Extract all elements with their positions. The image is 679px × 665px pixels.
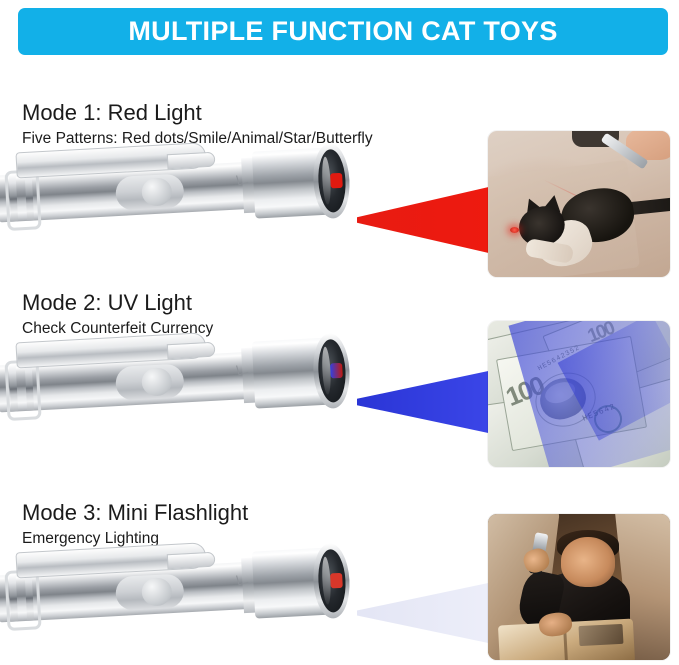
photo-counterfeit-currency: 100 HE5642352 HE5642 100 bbox=[488, 321, 670, 467]
header-banner: MULTIPLE FUNCTION CAT TOYS bbox=[18, 8, 668, 55]
red-light-beam bbox=[357, 186, 493, 254]
uv-light-beam bbox=[357, 370, 493, 434]
red-emitter-icon bbox=[330, 173, 343, 189]
white-led-emitter-icon bbox=[330, 573, 343, 589]
mode-title-2: Mode 2: UV Light bbox=[22, 290, 192, 316]
flashlight-illustration-1 bbox=[0, 128, 368, 253]
mode-title-3: Mode 3: Mini Flashlight bbox=[22, 500, 248, 526]
photo-layer bbox=[488, 514, 670, 660]
photo-layer: 100 HE5642352 HE5642 100 bbox=[488, 321, 670, 467]
mode-title-1: Mode 1: Red Light bbox=[22, 100, 202, 126]
uv-emitter-icon bbox=[330, 363, 343, 379]
flashlight-clip-loop bbox=[4, 169, 41, 231]
photo-layer bbox=[488, 131, 670, 277]
flashlight-power-button bbox=[115, 573, 185, 611]
flashlight-power-button bbox=[115, 363, 185, 401]
boy-head bbox=[561, 537, 616, 587]
book-page-image bbox=[578, 624, 623, 647]
flashlight-clip-loop bbox=[4, 359, 41, 421]
photo-boy-reading bbox=[488, 514, 670, 660]
flashlight-illustration-2 bbox=[0, 318, 368, 443]
page-title: MULTIPLE FUNCTION CAT TOYS bbox=[128, 18, 557, 45]
photo-cat-with-laser bbox=[488, 131, 670, 277]
flashlight-power-button bbox=[115, 173, 185, 211]
flashlight-clip-loop bbox=[4, 569, 41, 631]
flashlight-illustration-3 bbox=[0, 528, 368, 653]
white-light-beam bbox=[357, 582, 493, 644]
